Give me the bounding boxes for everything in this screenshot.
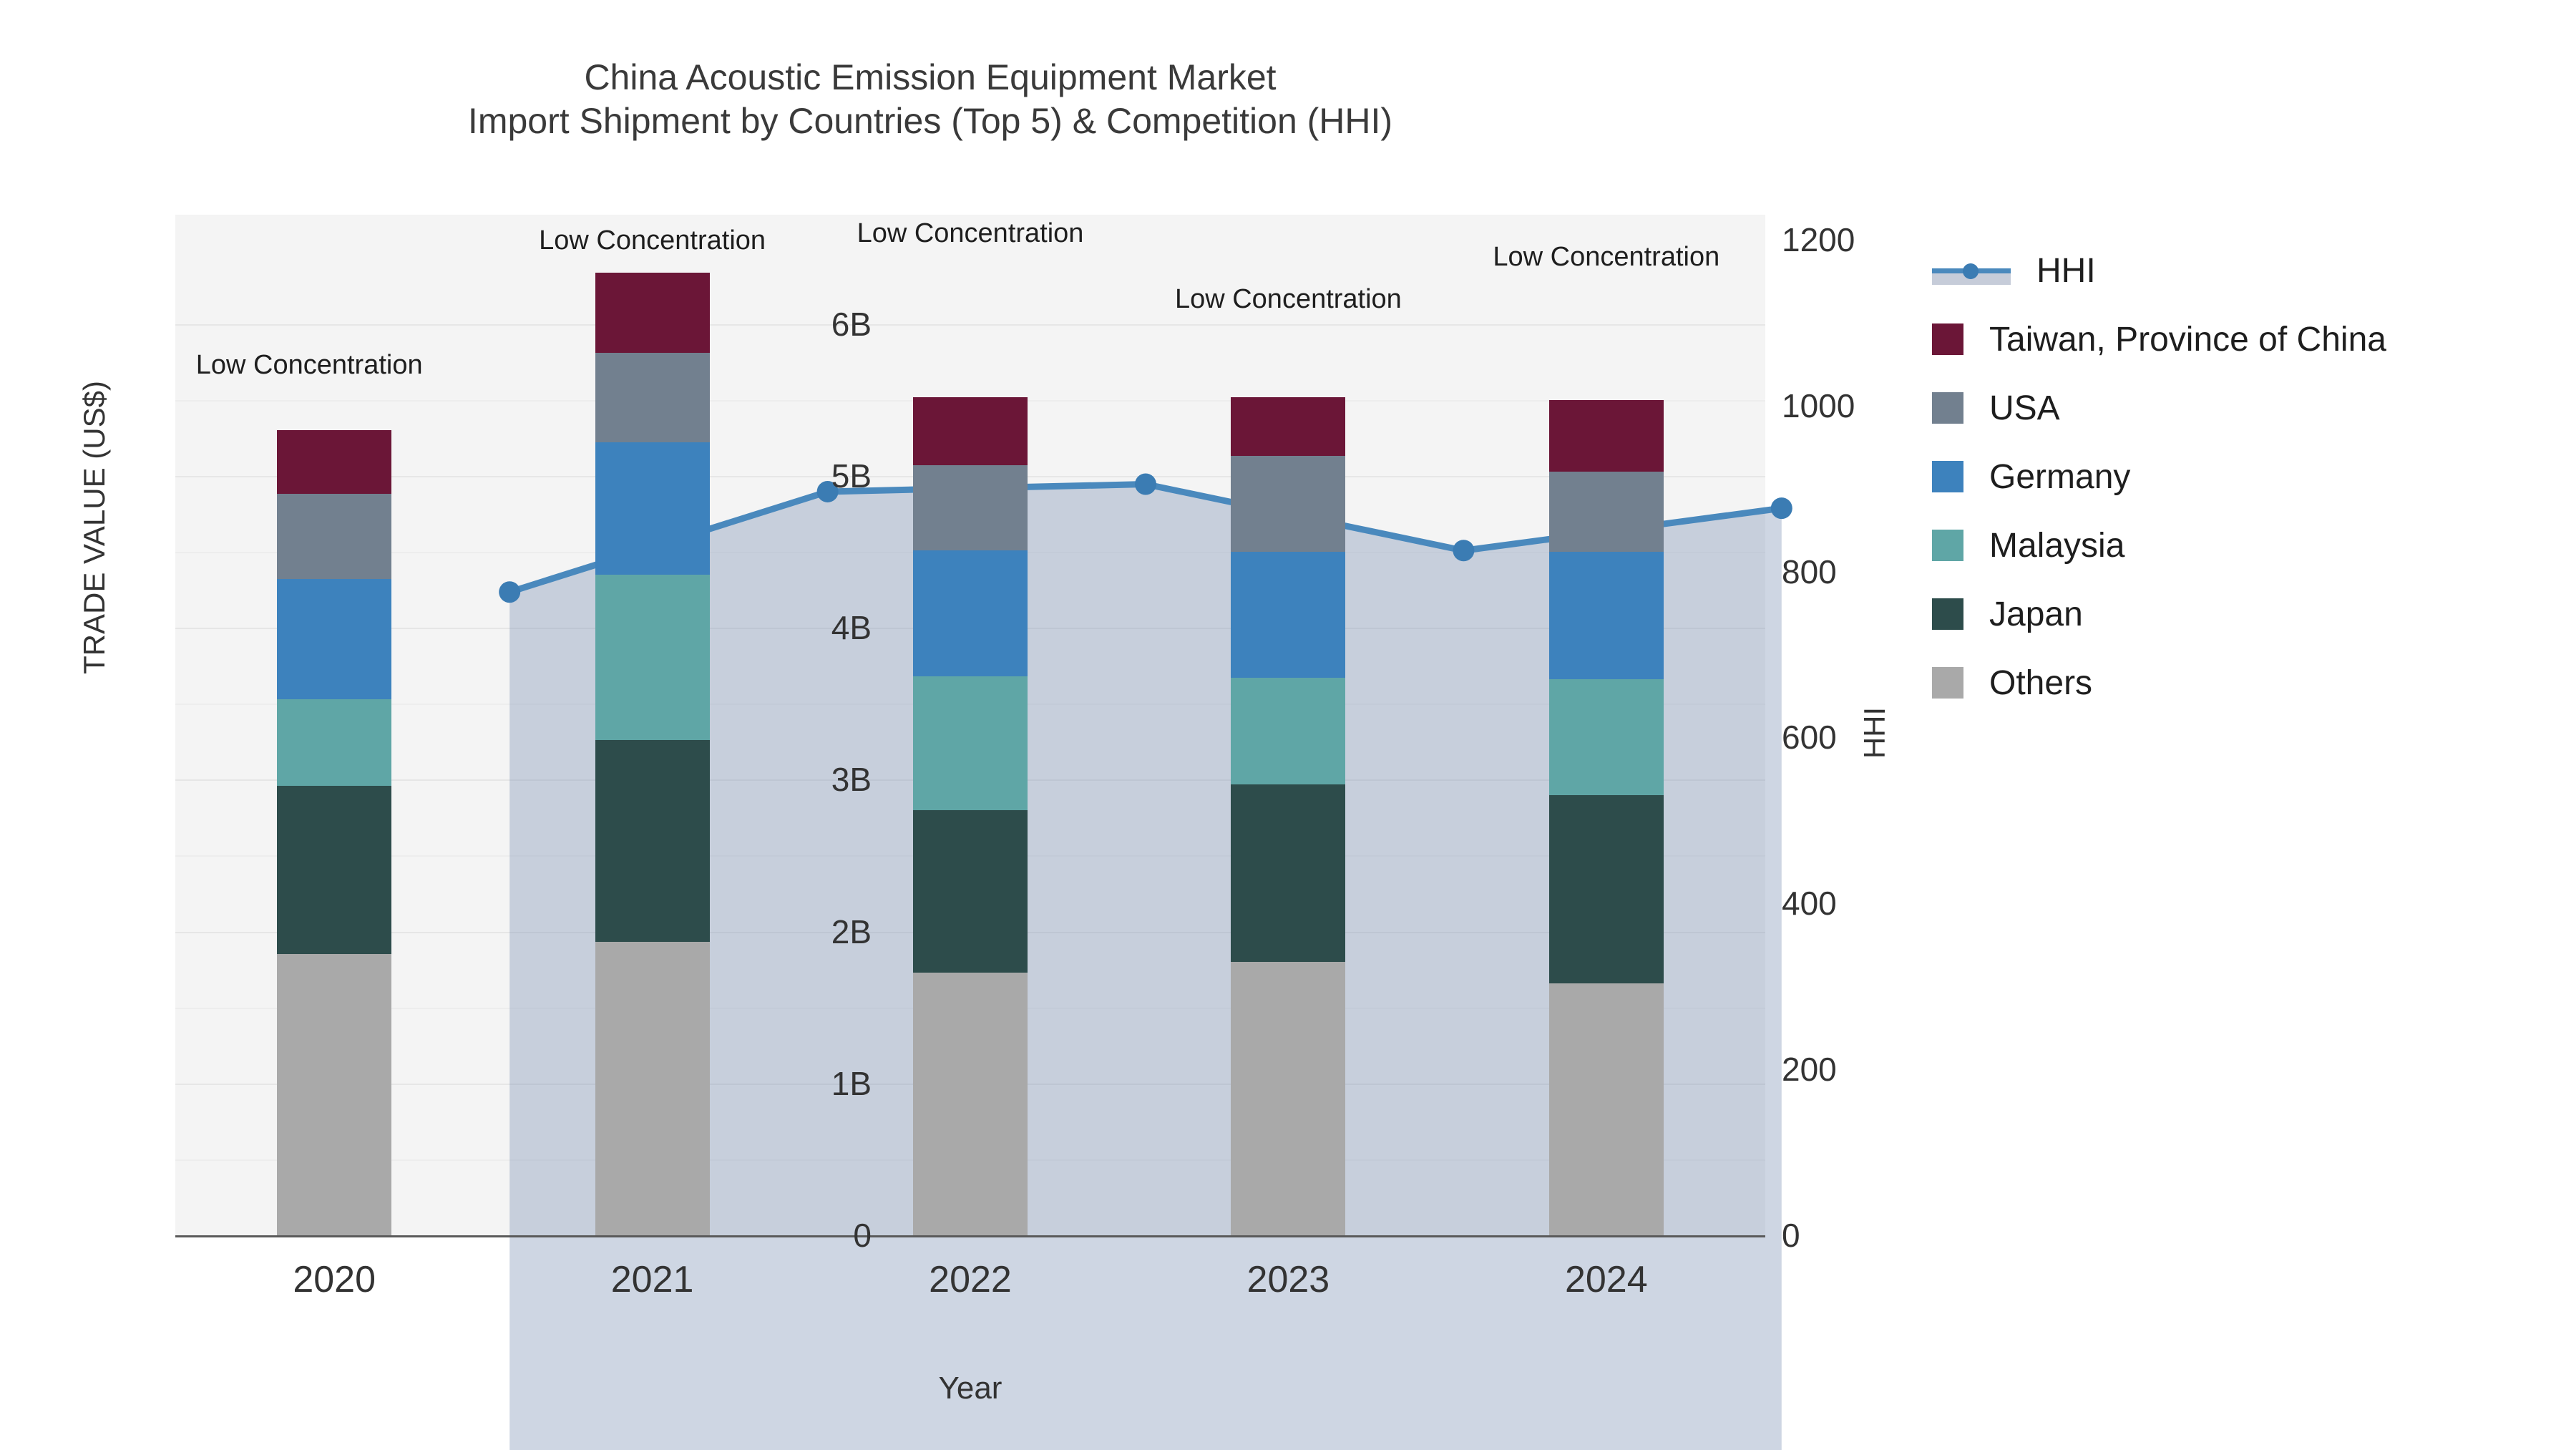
legend-item-label: Germany — [1989, 457, 2130, 497]
x-axis-tick-label: 2020 — [227, 1258, 441, 1301]
hhi-line-marker-icon — [1932, 255, 2011, 286]
y-axis-left-tick-label: 3B — [657, 760, 872, 799]
bar-segment[interactable] — [1549, 679, 1664, 794]
y-axis-right-label: HHI — [1858, 626, 1892, 840]
y-axis-left-tick-label: 5B — [657, 457, 872, 495]
bar-segment[interactable] — [277, 494, 391, 579]
legend-item-taiwan-province-of-china[interactable]: Taiwan, Province of China — [1932, 305, 2562, 374]
bar-segment[interactable] — [1231, 552, 1345, 678]
bar-segment[interactable] — [595, 353, 710, 442]
legend-item-label: Japan — [1989, 595, 2083, 634]
chart-canvas: China Acoustic Emission Equipment Market… — [0, 0, 2576, 1449]
y-axis-right-tick-label: 0 — [1782, 1216, 1996, 1255]
bar-group[interactable] — [1231, 215, 1345, 1235]
legend-swatch-icon — [1932, 461, 1963, 492]
y-axis-left-tick-label: 1B — [657, 1064, 872, 1103]
y-axis-right-tick-label: 400 — [1782, 884, 1996, 923]
x-axis-line — [175, 1235, 1765, 1237]
y-axis-left-tick-label: 0 — [657, 1216, 872, 1255]
annotation-label: Low Concentration — [857, 218, 1084, 249]
bar-segment[interactable] — [913, 676, 1028, 810]
legend-item-label: Taiwan, Province of China — [1989, 320, 2386, 359]
bar-segment[interactable] — [1549, 795, 1664, 983]
bar-segment[interactable] — [913, 550, 1028, 676]
legend-swatch-icon — [1932, 530, 1963, 561]
bar-group[interactable] — [1549, 215, 1664, 1235]
y-axis-right-tick-label: 200 — [1782, 1050, 1996, 1089]
legend-swatch-icon — [1932, 598, 1963, 630]
x-axis-tick-label: 2021 — [545, 1258, 760, 1301]
bar-segment[interactable] — [1231, 397, 1345, 457]
legend-item-malaysia[interactable]: Malaysia — [1932, 511, 2562, 580]
bar-segment[interactable] — [913, 397, 1028, 465]
bar-segment[interactable] — [277, 786, 391, 955]
bar-segment[interactable] — [1549, 472, 1664, 552]
bar-segment[interactable] — [1549, 552, 1664, 679]
bar-segment[interactable] — [277, 430, 391, 494]
bar-group[interactable] — [913, 215, 1028, 1235]
hhi-marker[interactable] — [1771, 497, 1792, 519]
chart-title-line1: China Acoustic Emission Equipment Market — [0, 56, 1860, 99]
y-axis-left-label: TRADE VALUE (US$) — [77, 313, 112, 742]
legend-item-label: USA — [1989, 389, 2060, 428]
legend: HHITaiwan, Province of ChinaUSAGermanyMa… — [1932, 236, 2562, 717]
annotation-label: Low Concentration — [1175, 284, 1402, 315]
y-axis-left-tick-label: 2B — [657, 913, 872, 951]
bar-segment[interactable] — [1231, 678, 1345, 784]
chart-title-line2: Import Shipment by Countries (Top 5) & C… — [0, 99, 1860, 143]
legend-item-usa[interactable]: USA — [1932, 374, 2562, 442]
bar-segment[interactable] — [595, 575, 710, 740]
y-axis-left-tick-label: 6B — [657, 305, 872, 344]
annotation-label: Low Concentration — [196, 350, 423, 381]
bar-segment[interactable] — [277, 954, 391, 1235]
annotation-label: Low Concentration — [1493, 242, 1719, 273]
chart-title: China Acoustic Emission Equipment Market… — [0, 56, 1860, 143]
bar-segment[interactable] — [1231, 784, 1345, 962]
bar-segment[interactable] — [913, 810, 1028, 973]
legend-item-label: Others — [1989, 663, 2092, 703]
legend-item-label: Malaysia — [1989, 526, 2124, 565]
bar-segment[interactable] — [1549, 983, 1664, 1235]
legend-swatch-icon — [1932, 667, 1963, 699]
bar-segment[interactable] — [913, 973, 1028, 1235]
y-axis-left-tick-label: 4B — [657, 608, 872, 647]
annotation-label: Low Concentration — [539, 225, 766, 256]
hhi-marker[interactable] — [499, 581, 520, 603]
x-axis-label: Year — [175, 1371, 1765, 1406]
x-axis-tick-label: 2023 — [1181, 1258, 1395, 1301]
legend-swatch-icon — [1932, 323, 1963, 355]
legend-item-japan[interactable]: Japan — [1932, 580, 2562, 648]
bar-segment[interactable] — [277, 579, 391, 699]
bar-segment[interactable] — [277, 699, 391, 786]
hhi-marker[interactable] — [1453, 540, 1474, 561]
bar-segment[interactable] — [913, 465, 1028, 550]
x-axis-tick-label: 2024 — [1499, 1258, 1714, 1301]
bar-segment[interactable] — [1231, 962, 1345, 1235]
x-axis-tick-label: 2022 — [863, 1258, 1078, 1301]
legend-item-others[interactable]: Others — [1932, 648, 2562, 717]
bar-segment[interactable] — [1549, 400, 1664, 472]
hhi-marker[interactable] — [1135, 474, 1156, 495]
legend-item-hhi[interactable]: HHI — [1932, 236, 2562, 305]
legend-swatch-icon — [1932, 392, 1963, 424]
legend-item-label: HHI — [2036, 251, 2096, 291]
legend-item-germany[interactable]: Germany — [1932, 442, 2562, 511]
bar-segment[interactable] — [1231, 456, 1345, 552]
